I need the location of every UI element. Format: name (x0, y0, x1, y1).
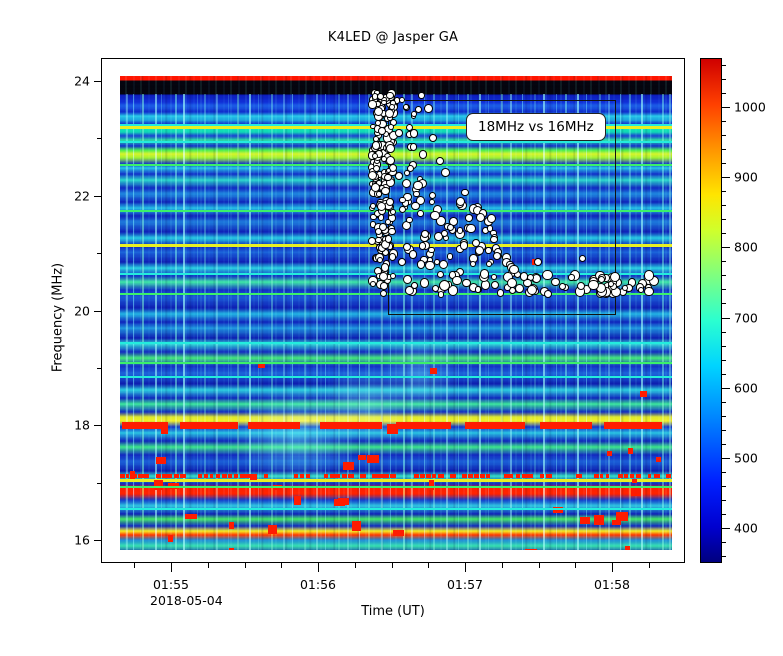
colorbar-tick-minor (722, 205, 726, 206)
colorbar-tick-minor (722, 275, 726, 276)
scatter-point (438, 291, 445, 298)
figure-canvas: K4LED @ Jasper GA 18MHz vs 16MHz 1618202… (0, 0, 783, 656)
scatter-point (579, 255, 586, 262)
scatter-point (418, 92, 425, 99)
colorbar-tick-minor (722, 261, 726, 262)
x-tick-label: 01:55 (153, 577, 189, 592)
scatter-point (415, 106, 423, 114)
scatter-point (406, 217, 413, 224)
scatter-point (378, 127, 386, 135)
scatter-point (485, 247, 491, 253)
x-tick-major (318, 563, 319, 572)
scatter-point (456, 197, 465, 206)
x-tick-minor (575, 563, 576, 568)
scatter-point (420, 278, 429, 287)
colorbar-tick-major (722, 247, 730, 248)
scatter-point (374, 107, 383, 116)
scatter-point (381, 263, 389, 271)
y-tick-major (94, 425, 101, 426)
scatter-point (439, 260, 448, 269)
scatter-point (436, 157, 444, 165)
scatter-point (379, 223, 387, 231)
scatter-point (588, 280, 599, 291)
colorbar-tick-minor (722, 219, 726, 220)
scatter-point (439, 280, 450, 291)
scatter-point (462, 279, 471, 288)
y-tick-label: 18 (30, 418, 90, 433)
scatter-point (461, 189, 468, 196)
x-axis-title: Time (UT) (101, 604, 685, 619)
colorbar-tick-major (722, 528, 730, 529)
scatter-point (411, 282, 418, 289)
x-tick-minor (649, 563, 650, 568)
colorbar-tick-minor (722, 542, 726, 543)
scatter-point (379, 272, 388, 281)
colorbar-tick-minor (722, 135, 726, 136)
colorbar-tick-minor (722, 289, 726, 290)
scatter-point (381, 100, 387, 106)
scatter-point (398, 258, 406, 266)
colorbar-tick-minor (722, 472, 726, 473)
scatter-point (399, 197, 406, 204)
x-tick-major (465, 563, 466, 572)
scatter-point (568, 274, 574, 280)
scatter-point (402, 179, 411, 188)
scatter-point (429, 134, 437, 142)
scatter-point (644, 287, 654, 297)
scatter-point (390, 273, 396, 279)
y-tick-minor (97, 138, 101, 139)
x-tick-label: 01:56 (300, 577, 336, 592)
x-tick-minor (208, 563, 209, 568)
scatter-point (377, 93, 384, 100)
x-tick-minor (355, 563, 356, 568)
x-tick-minor (392, 563, 393, 568)
scatter-point (395, 129, 403, 137)
scatter-point (399, 206, 406, 213)
colorbar-tick-minor (722, 360, 726, 361)
y-tick-label: 16 (30, 533, 90, 548)
colorbar-tick-minor (722, 430, 726, 431)
scatter-point (491, 274, 497, 280)
scatter-point (430, 211, 440, 221)
colorbar-tick-minor (722, 346, 726, 347)
scatter-point (475, 246, 484, 255)
scatter-point (544, 290, 552, 298)
scatter-point (437, 271, 444, 278)
colorbar-tick-minor (722, 416, 726, 417)
scatter-point (644, 270, 655, 281)
y-tick-label: 24 (30, 73, 90, 88)
scatter-point (534, 258, 542, 266)
colorbar-tick-major (722, 458, 730, 459)
y-tick-major (94, 81, 101, 82)
colorbar (700, 58, 722, 563)
scatter-point (598, 276, 605, 283)
y-tick-label: 22 (30, 188, 90, 203)
colorbar-tick-minor (722, 303, 726, 304)
scatter-point (409, 250, 418, 259)
scatter-point (480, 269, 489, 278)
scatter-point (447, 224, 454, 231)
colorbar-tick-minor (722, 444, 726, 445)
scatter-overlay (120, 76, 672, 550)
colorbar-tick-minor (722, 163, 726, 164)
scatter-point (372, 141, 380, 149)
scatter-point (410, 143, 417, 150)
x-tick-major (171, 563, 172, 572)
colorbar-tick-label: 900 (734, 170, 758, 185)
x-tick-minor (281, 563, 282, 568)
colorbar-tick-minor (722, 121, 726, 122)
colorbar-tick-label: 400 (734, 520, 758, 535)
scatter-point (429, 199, 435, 205)
scatter-point (429, 192, 437, 200)
scatter-point (490, 236, 498, 244)
colorbar-tick-label: 600 (734, 380, 758, 395)
scatter-point (559, 283, 566, 290)
x-tick-major (612, 563, 613, 572)
x-tick-minor (502, 563, 503, 568)
scatter-point (419, 150, 428, 159)
scatter-point (493, 252, 501, 260)
scatter-point (417, 260, 425, 268)
colorbar-tick-minor (722, 149, 726, 150)
x-tick-label: 01:57 (447, 577, 483, 592)
y-tick-minor (97, 368, 101, 369)
colorbar-tick-minor (722, 65, 726, 66)
colorbar-tick-minor (722, 233, 726, 234)
scatter-point (497, 289, 504, 296)
scatter-point (466, 224, 475, 233)
scatter-point (384, 174, 392, 182)
scatter-point (487, 214, 496, 223)
scatter-point (421, 230, 429, 238)
scatter-point (486, 261, 493, 268)
colorbar-tick-label: 1000 (734, 100, 766, 115)
colorbar-tick-minor (722, 332, 726, 333)
colorbar-tick-minor (722, 191, 726, 192)
scatter-point (381, 187, 390, 196)
y-axis-title: Frequency (MHz) (51, 218, 66, 418)
x-tick-minor (428, 563, 429, 568)
scatter-point (452, 276, 462, 286)
colorbar-tick-label: 700 (734, 310, 758, 325)
colorbar-tick-label: 800 (734, 240, 758, 255)
page-title: K4LED @ Jasper GA (101, 30, 685, 45)
scatter-point (389, 253, 397, 261)
colorbar-tick-major (722, 388, 730, 389)
colorbar-tick-minor (722, 556, 726, 557)
scatter-point (395, 172, 403, 180)
scatter-point (407, 165, 414, 172)
colorbar-tick-minor (722, 514, 726, 515)
x-tick-minor (134, 563, 135, 568)
scatter-point (470, 261, 476, 267)
colorbar-tick-minor (722, 500, 726, 501)
scatter-point (386, 144, 395, 153)
colorbar-tick-minor (722, 402, 726, 403)
scatter-point (410, 129, 418, 137)
colorbar-tick-minor (722, 374, 726, 375)
scatter-point (424, 104, 433, 113)
scatter-point (491, 281, 499, 289)
scatter-point (380, 290, 387, 297)
y-tick-minor (97, 253, 101, 254)
scatter-point (368, 237, 376, 245)
scatter-point (417, 210, 424, 217)
scatter-point (460, 241, 468, 249)
colorbar-tick-label: 500 (734, 450, 758, 465)
scatter-point (441, 168, 450, 177)
y-tick-major (94, 540, 101, 541)
colorbar-tick-major (722, 107, 730, 108)
y-tick-major (94, 196, 101, 197)
y-tick-minor (97, 483, 101, 484)
x-tick-minor (539, 563, 540, 568)
scatter-point (380, 282, 388, 290)
scatter-point (413, 181, 423, 191)
scatter-point (411, 202, 420, 211)
colorbar-tick-minor (722, 79, 726, 80)
scatter-point (447, 253, 453, 259)
x-tick-label: 01:58 (594, 577, 630, 592)
scatter-point (386, 198, 394, 206)
scatter-point (368, 171, 377, 180)
scatter-point (385, 109, 394, 118)
colorbar-tick-minor (722, 486, 726, 487)
scatter-point (413, 191, 420, 198)
scatter-point (465, 214, 473, 222)
x-tick-minor (245, 563, 246, 568)
y-tick-major (94, 311, 101, 312)
scatter-point (509, 265, 518, 274)
colorbar-tick-minor (722, 93, 726, 94)
scatter-point (425, 261, 435, 271)
scatter-point (388, 124, 394, 130)
colorbar-tick-major (722, 177, 730, 178)
scatter-point (520, 272, 529, 281)
annotation-label-18mhz-vs-16mhz: 18MHz vs 16MHz (466, 113, 606, 141)
scatter-point (370, 203, 376, 209)
scatter-point (390, 209, 396, 215)
colorbar-tick-major (722, 318, 730, 319)
scatter-point (385, 235, 392, 242)
